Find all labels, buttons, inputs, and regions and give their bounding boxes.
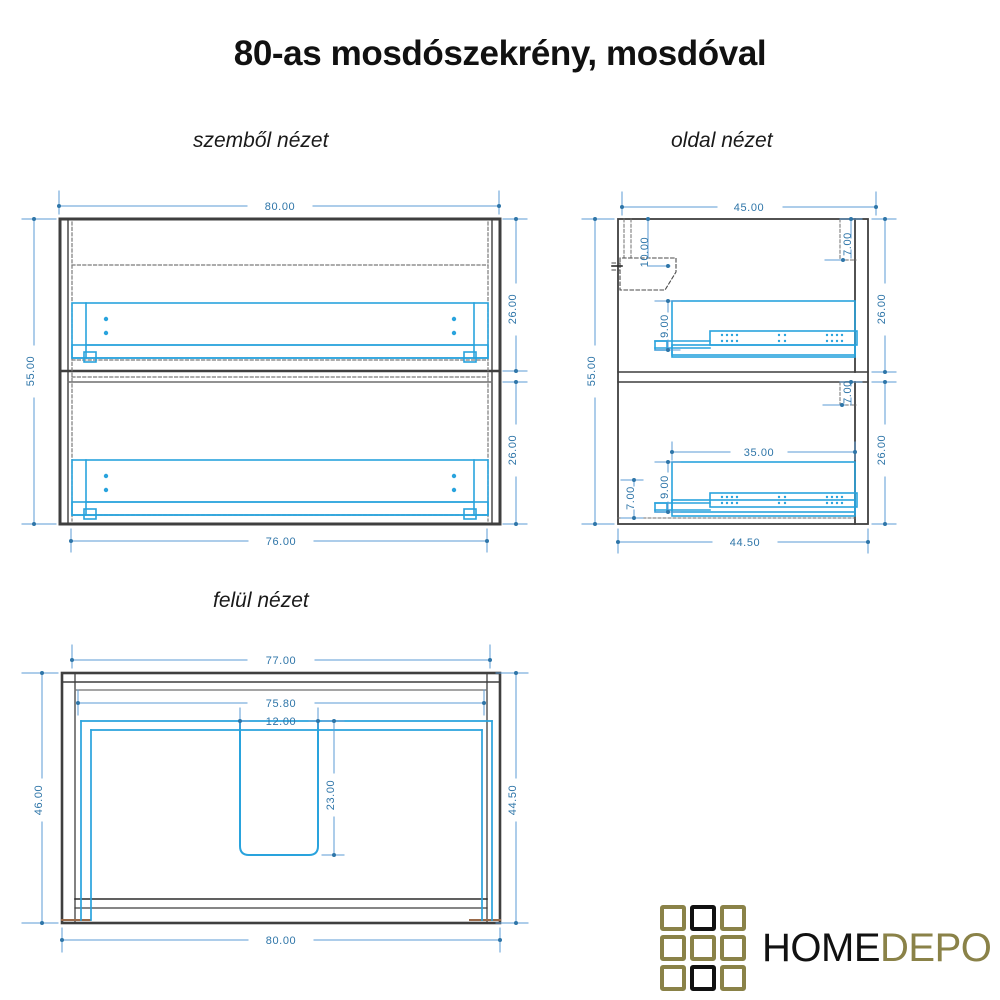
- logo-grid-icon: [660, 905, 746, 991]
- logo-square-6: [720, 935, 746, 961]
- logo-square-3: [720, 905, 746, 931]
- logo-square-1: [660, 905, 686, 931]
- technical-drawing-sheet: 80-as mosdószekrény, mosdóval szemből né…: [0, 0, 1000, 1000]
- dim-top-cutout-depth: 23.00: [325, 780, 337, 811]
- dim-top-outer-depth: 46.00: [33, 785, 45, 816]
- dim-top-bottom-width: 80.00: [266, 935, 297, 947]
- dim-top-outer-width: 77.00: [266, 655, 297, 667]
- logo-square-9: [720, 965, 746, 991]
- logo-text-depo: DEPO: [880, 926, 991, 970]
- homedepo-logo: HOMEDEPO: [660, 905, 991, 991]
- logo-square-5: [690, 935, 716, 961]
- logo-wordmark: HOMEDEPO: [762, 926, 991, 971]
- dim-top-inner-depth: 44.50: [507, 785, 519, 816]
- logo-square-8: [690, 965, 716, 991]
- dim-top-inner-width: 75.80: [266, 698, 297, 710]
- dim-top-cutout-width: 12.00: [266, 716, 297, 728]
- logo-square-4: [660, 935, 686, 961]
- logo-square-2: [690, 905, 716, 931]
- logo-square-7: [660, 965, 686, 991]
- top-view-drawing: 77.00 75.80 12.00 23.00 46.00 44.50 80.0…: [0, 0, 1000, 1000]
- logo-text-home: HOME: [762, 926, 880, 970]
